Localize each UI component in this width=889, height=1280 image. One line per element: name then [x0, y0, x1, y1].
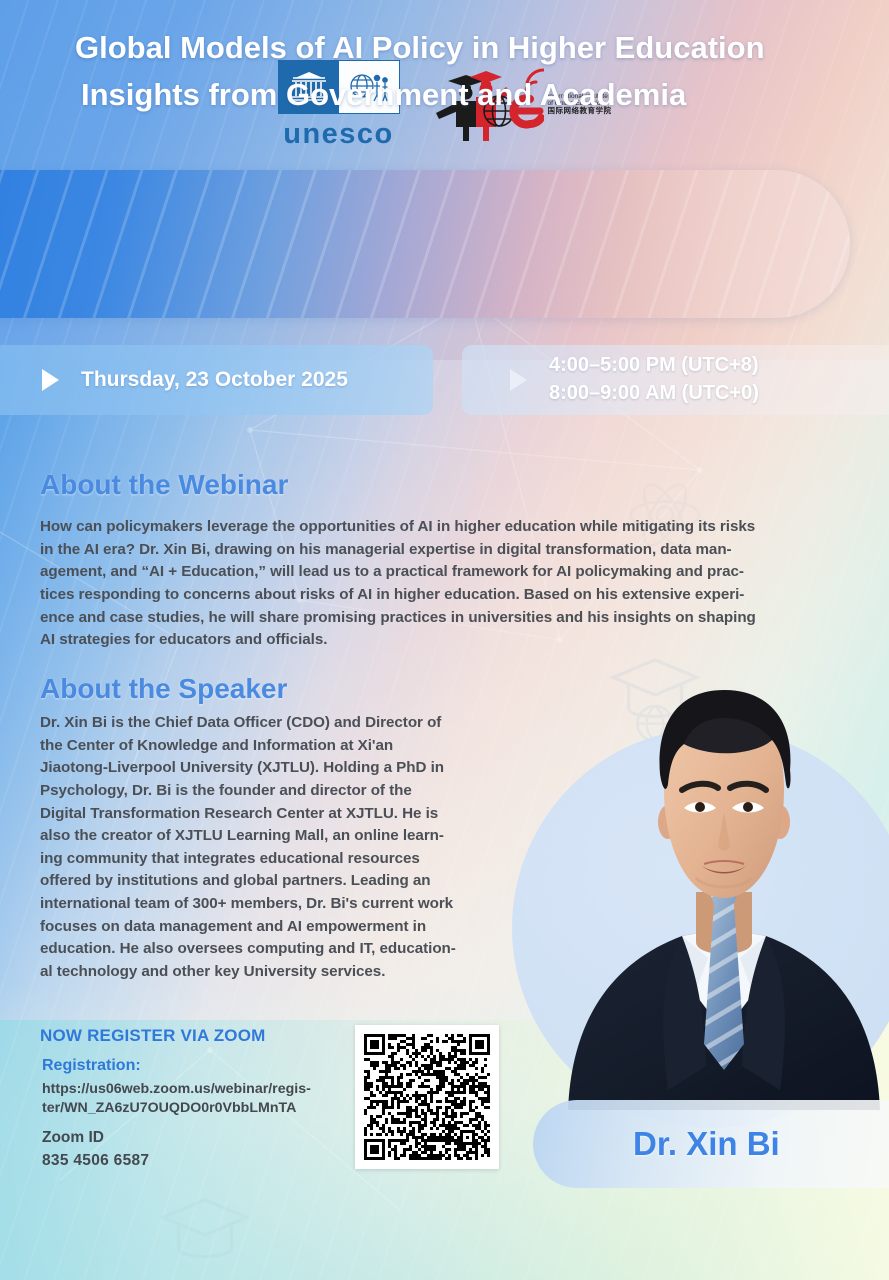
about-speaker-heading: About the Speaker [40, 673, 287, 705]
webinar-body-line-2: in the AI era? Dr. Xin Bi, drawing on hi… [40, 539, 825, 562]
event-date-bar: Thursday, 23 October 2025 [0, 345, 433, 415]
about-webinar-heading: About the Webinar [40, 469, 288, 501]
webinar-body-line-4: tices responding to concerns about risks… [40, 584, 825, 607]
speaker-body-line-2: the Center of Knowledge and Information … [40, 735, 495, 758]
title-line-1: Global Models of AI Policy in Higher Edu… [75, 24, 829, 71]
speaker-nameplate: Dr. Xin Bi [533, 1100, 889, 1188]
about-speaker-text: Dr. Xin Bi is the Chief Data Officer (CD… [40, 712, 495, 984]
play-triangle-icon [42, 369, 59, 391]
speaker-body-line-11: education. He also oversees computing an… [40, 938, 495, 961]
speaker-body-line-7: ing community that integrates educationa… [40, 848, 495, 871]
speaker-body-line-9: international team of 300+ members, Dr. … [40, 893, 495, 916]
event-time-line-2: 8:00–9:00 AM (UTC+0) [549, 380, 759, 408]
webinar-body-line-3: agement, and “AI + Education,” will lead… [40, 561, 825, 584]
speaker-portrait [556, 660, 889, 1110]
zoom-id-label: Zoom ID [42, 1129, 104, 1147]
speaker-body-line-8: offered by institutions and global partn… [40, 870, 495, 893]
speaker-body-line-6: also the creator of XJTLU Learning Mall,… [40, 825, 495, 848]
event-time: 4:00–5:00 PM (UTC+8) 8:00–9:00 AM (UTC+0… [549, 352, 759, 407]
speaker-body-line-3: Jiaotong-Liverpool University (XJTLU). H… [40, 757, 495, 780]
title-line-2: Insights from Government and Academia [75, 71, 829, 118]
webinar-poster: unesco [0, 0, 889, 1280]
speaker-body-line-5: Digital Transformation Research Center a… [40, 803, 495, 826]
speaker-body-line-12: al technology and other key University s… [40, 961, 495, 984]
unesco-wordmark: unesco [283, 120, 394, 149]
play-triangle-icon-2 [510, 369, 527, 391]
webinar-body-line-6: AI strategies for educators and official… [40, 629, 825, 652]
registration-url-line-2: ter/WN_ZA6zU7OUQDO0r0VbbLMnTA [42, 1099, 342, 1118]
about-webinar-text: How can policymakers leverage the opport… [40, 516, 825, 652]
webinar-body-line-1: How can policymakers leverage the opport… [40, 516, 825, 539]
registration-url[interactable]: https://us06web.zoom.us/webinar/regis- t… [42, 1080, 342, 1118]
registration-url-line-1: https://us06web.zoom.us/webinar/regis- [42, 1080, 342, 1099]
event-time-bar: 4:00–5:00 PM (UTC+8) 8:00–9:00 AM (UTC+0… [462, 345, 889, 415]
register-heading: NOW REGISTER VIA ZOOM [40, 1026, 266, 1046]
registration-label: Registration: [42, 1057, 141, 1075]
event-time-line-1: 4:00–5:00 PM (UTC+8) [549, 352, 759, 380]
title-banner-stripes [0, 170, 850, 318]
qr-code[interactable] [355, 1025, 499, 1169]
title-banner [0, 170, 850, 318]
speaker-body-line-1: Dr. Xin Bi is the Chief Data Officer (CD… [40, 712, 495, 735]
speaker-name: Dr. Xin Bi [633, 1125, 780, 1163]
webinar-body-line-5: ence and case studies, he will share pro… [40, 607, 825, 630]
speaker-body-line-4: Psychology, Dr. Bi is the founder and di… [40, 780, 495, 803]
speaker-body-line-10: focuses on data management and AI empowe… [40, 916, 495, 939]
zoom-id-value: 835 4506 6587 [42, 1152, 149, 1170]
event-date: Thursday, 23 October 2025 [81, 368, 348, 392]
graduation-cap-watermark-2 [150, 1180, 260, 1280]
page-title: Global Models of AI Policy in Higher Edu… [75, 24, 829, 118]
